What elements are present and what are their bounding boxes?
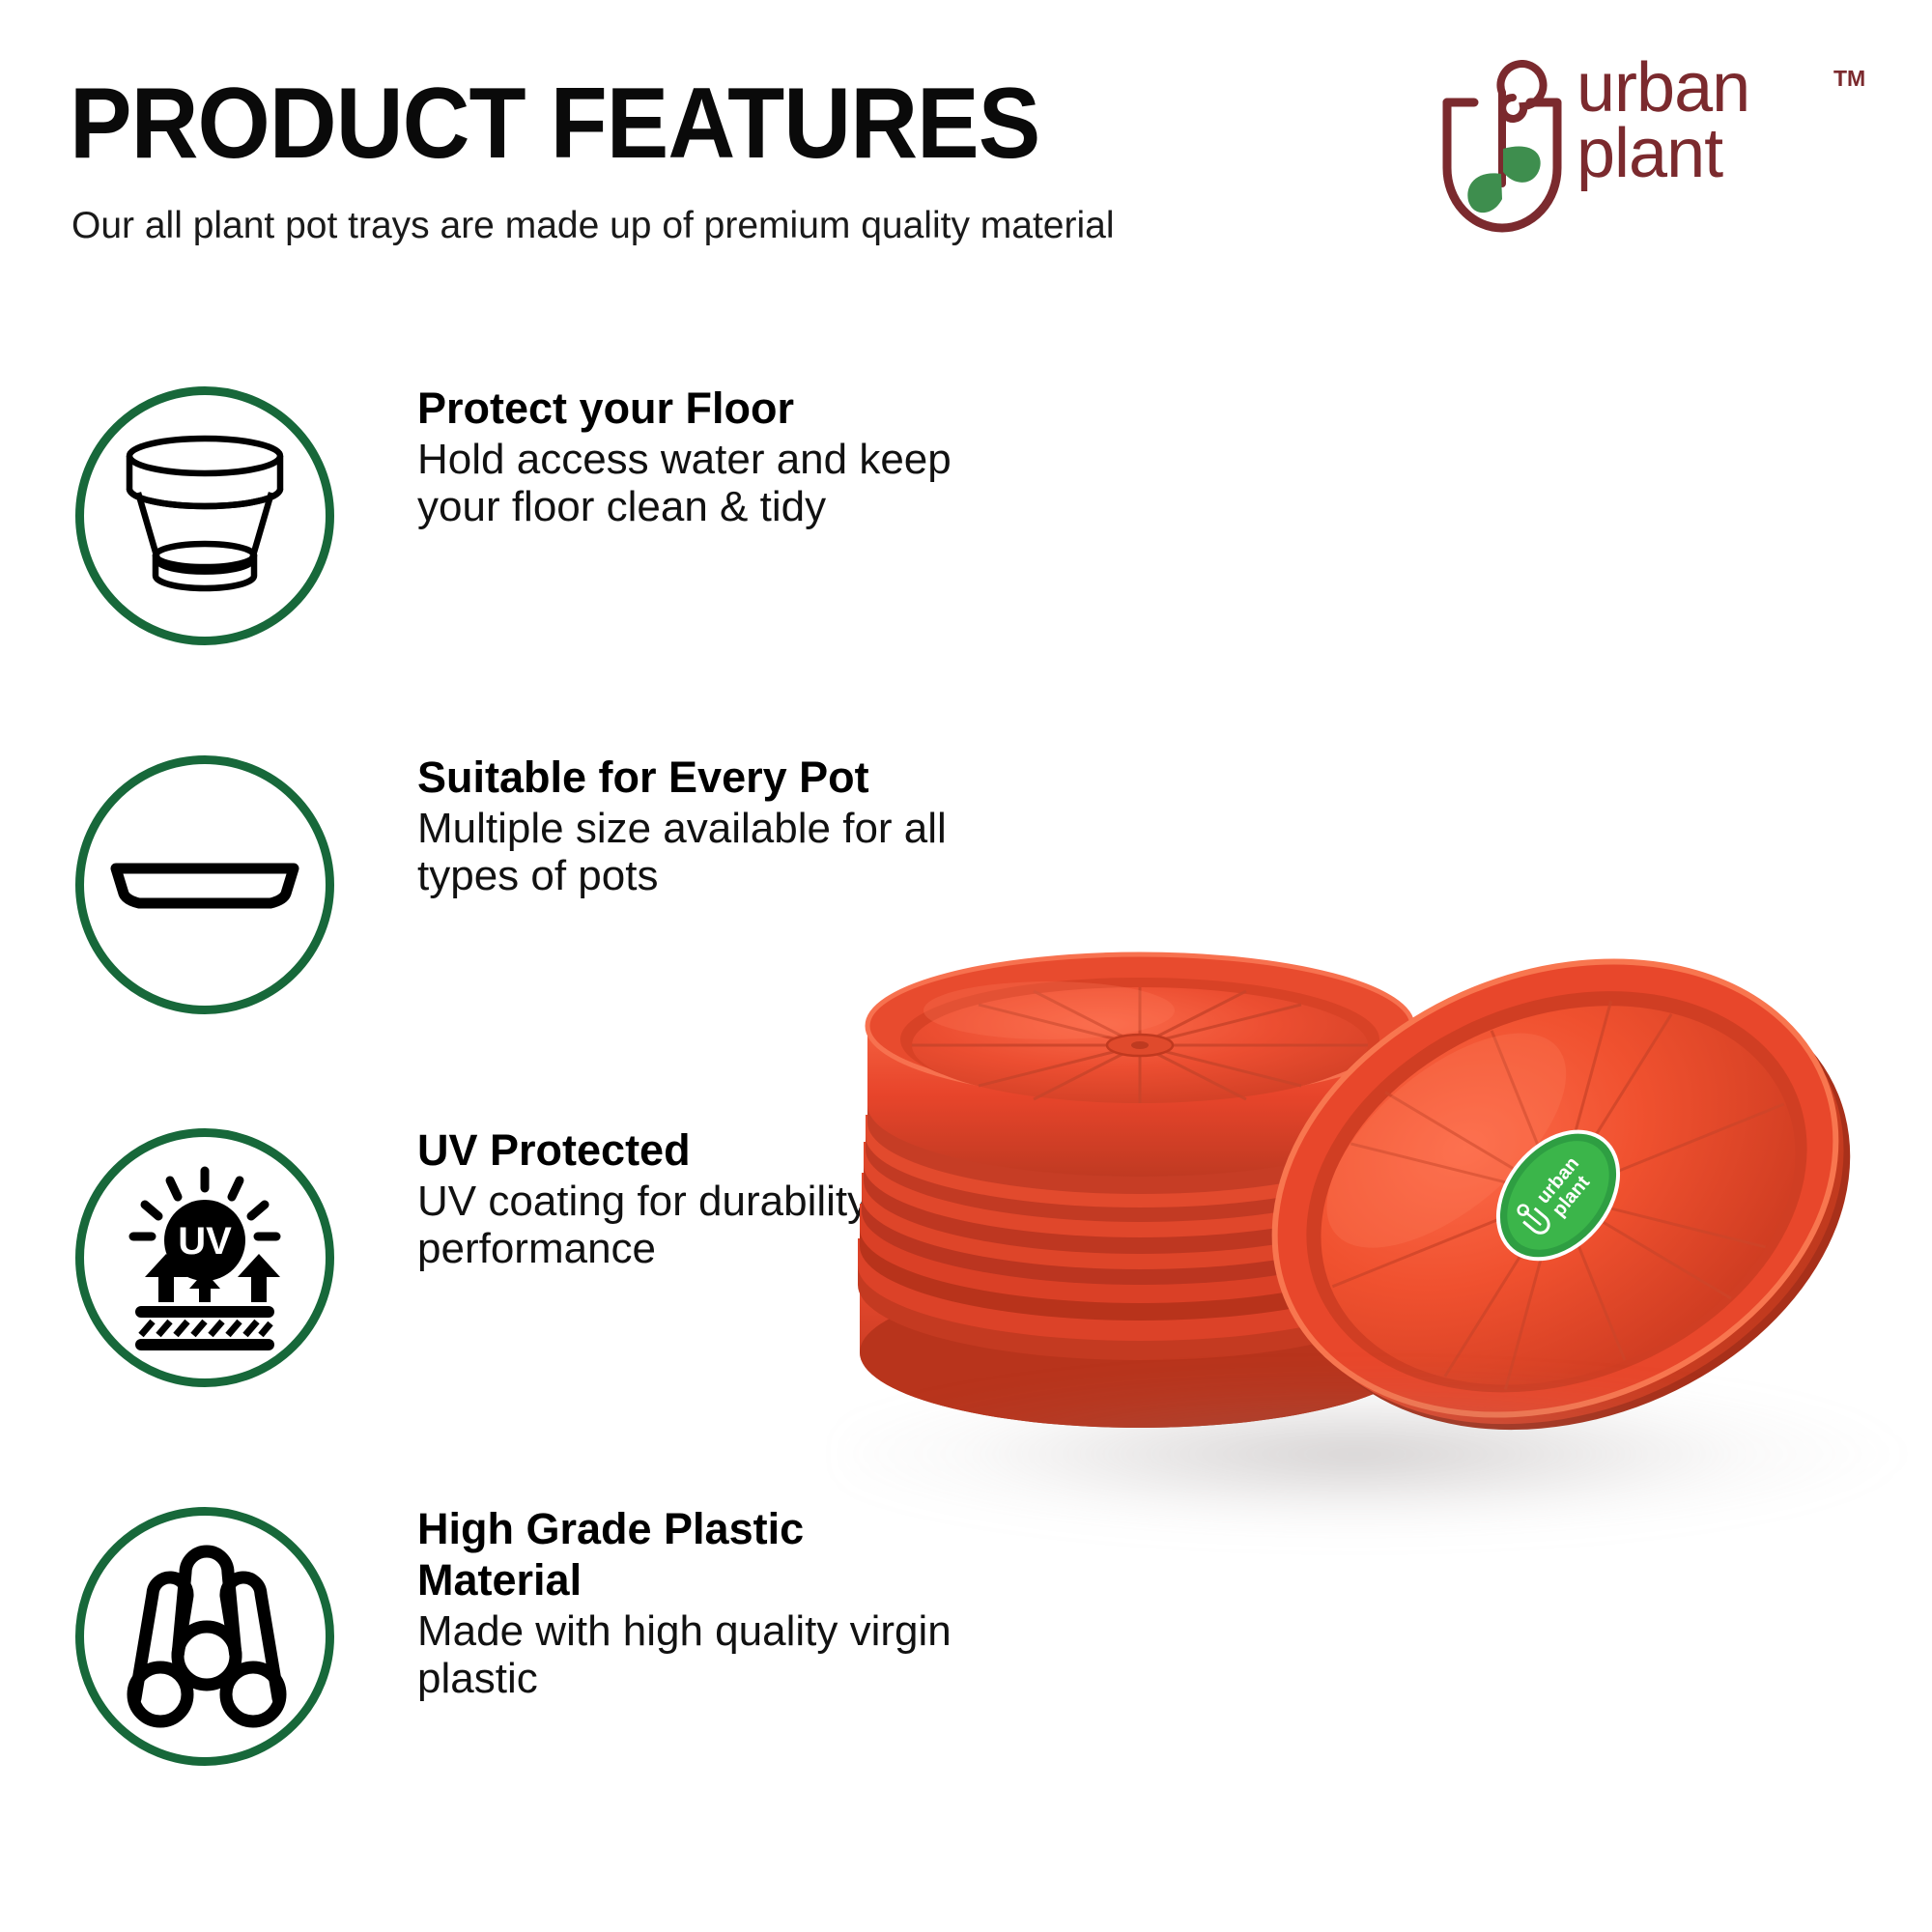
feature-icon-circle <box>75 386 334 645</box>
page-title: PRODUCT FEATURES <box>70 73 1039 174</box>
feature-title: Protect your Floor <box>417 383 958 434</box>
feature-text-block: Protect your Floor Hold access water and… <box>417 383 958 531</box>
page-subtitle: Our all plant pot trays are made up of p… <box>71 203 1279 250</box>
brand-logo: urban plant TM <box>1430 60 1874 239</box>
trademark-symbol: TM <box>1833 66 1865 92</box>
plastic-pipes-icon <box>108 1540 301 1733</box>
feature-description: Hold access water and keep your floor cl… <box>417 436 958 531</box>
feature-icon-circle <box>75 755 334 1014</box>
feature-title: Suitable for Every Pot <box>417 752 958 803</box>
feature-description: Multiple size available for all types of… <box>417 805 958 900</box>
feature-icon-circle: UV <box>75 1128 334 1387</box>
feature-text-block: Suitable for Every Pot Multiple size ava… <box>417 752 958 900</box>
feature-description: Made with high quality virgin plastic <box>417 1607 958 1703</box>
trowel-with-plant-icon <box>1430 60 1575 243</box>
logo-line-urban: urban <box>1577 56 1749 122</box>
product-photo: urban plant <box>821 898 1932 1575</box>
svg-text:UV: UV <box>178 1220 232 1263</box>
tray-saucer-icon <box>108 839 301 931</box>
product-drop-shadow <box>840 1362 1913 1546</box>
header: PRODUCT FEATURES Our all plant pot trays… <box>0 0 1932 319</box>
feature-icon-circle <box>75 1507 334 1766</box>
flower-pot-icon <box>113 429 297 603</box>
uv-protection-icon: UV <box>108 1159 301 1357</box>
logo-line-plant: plant <box>1577 122 1749 187</box>
logo-wordmark: urban plant <box>1577 56 1749 186</box>
